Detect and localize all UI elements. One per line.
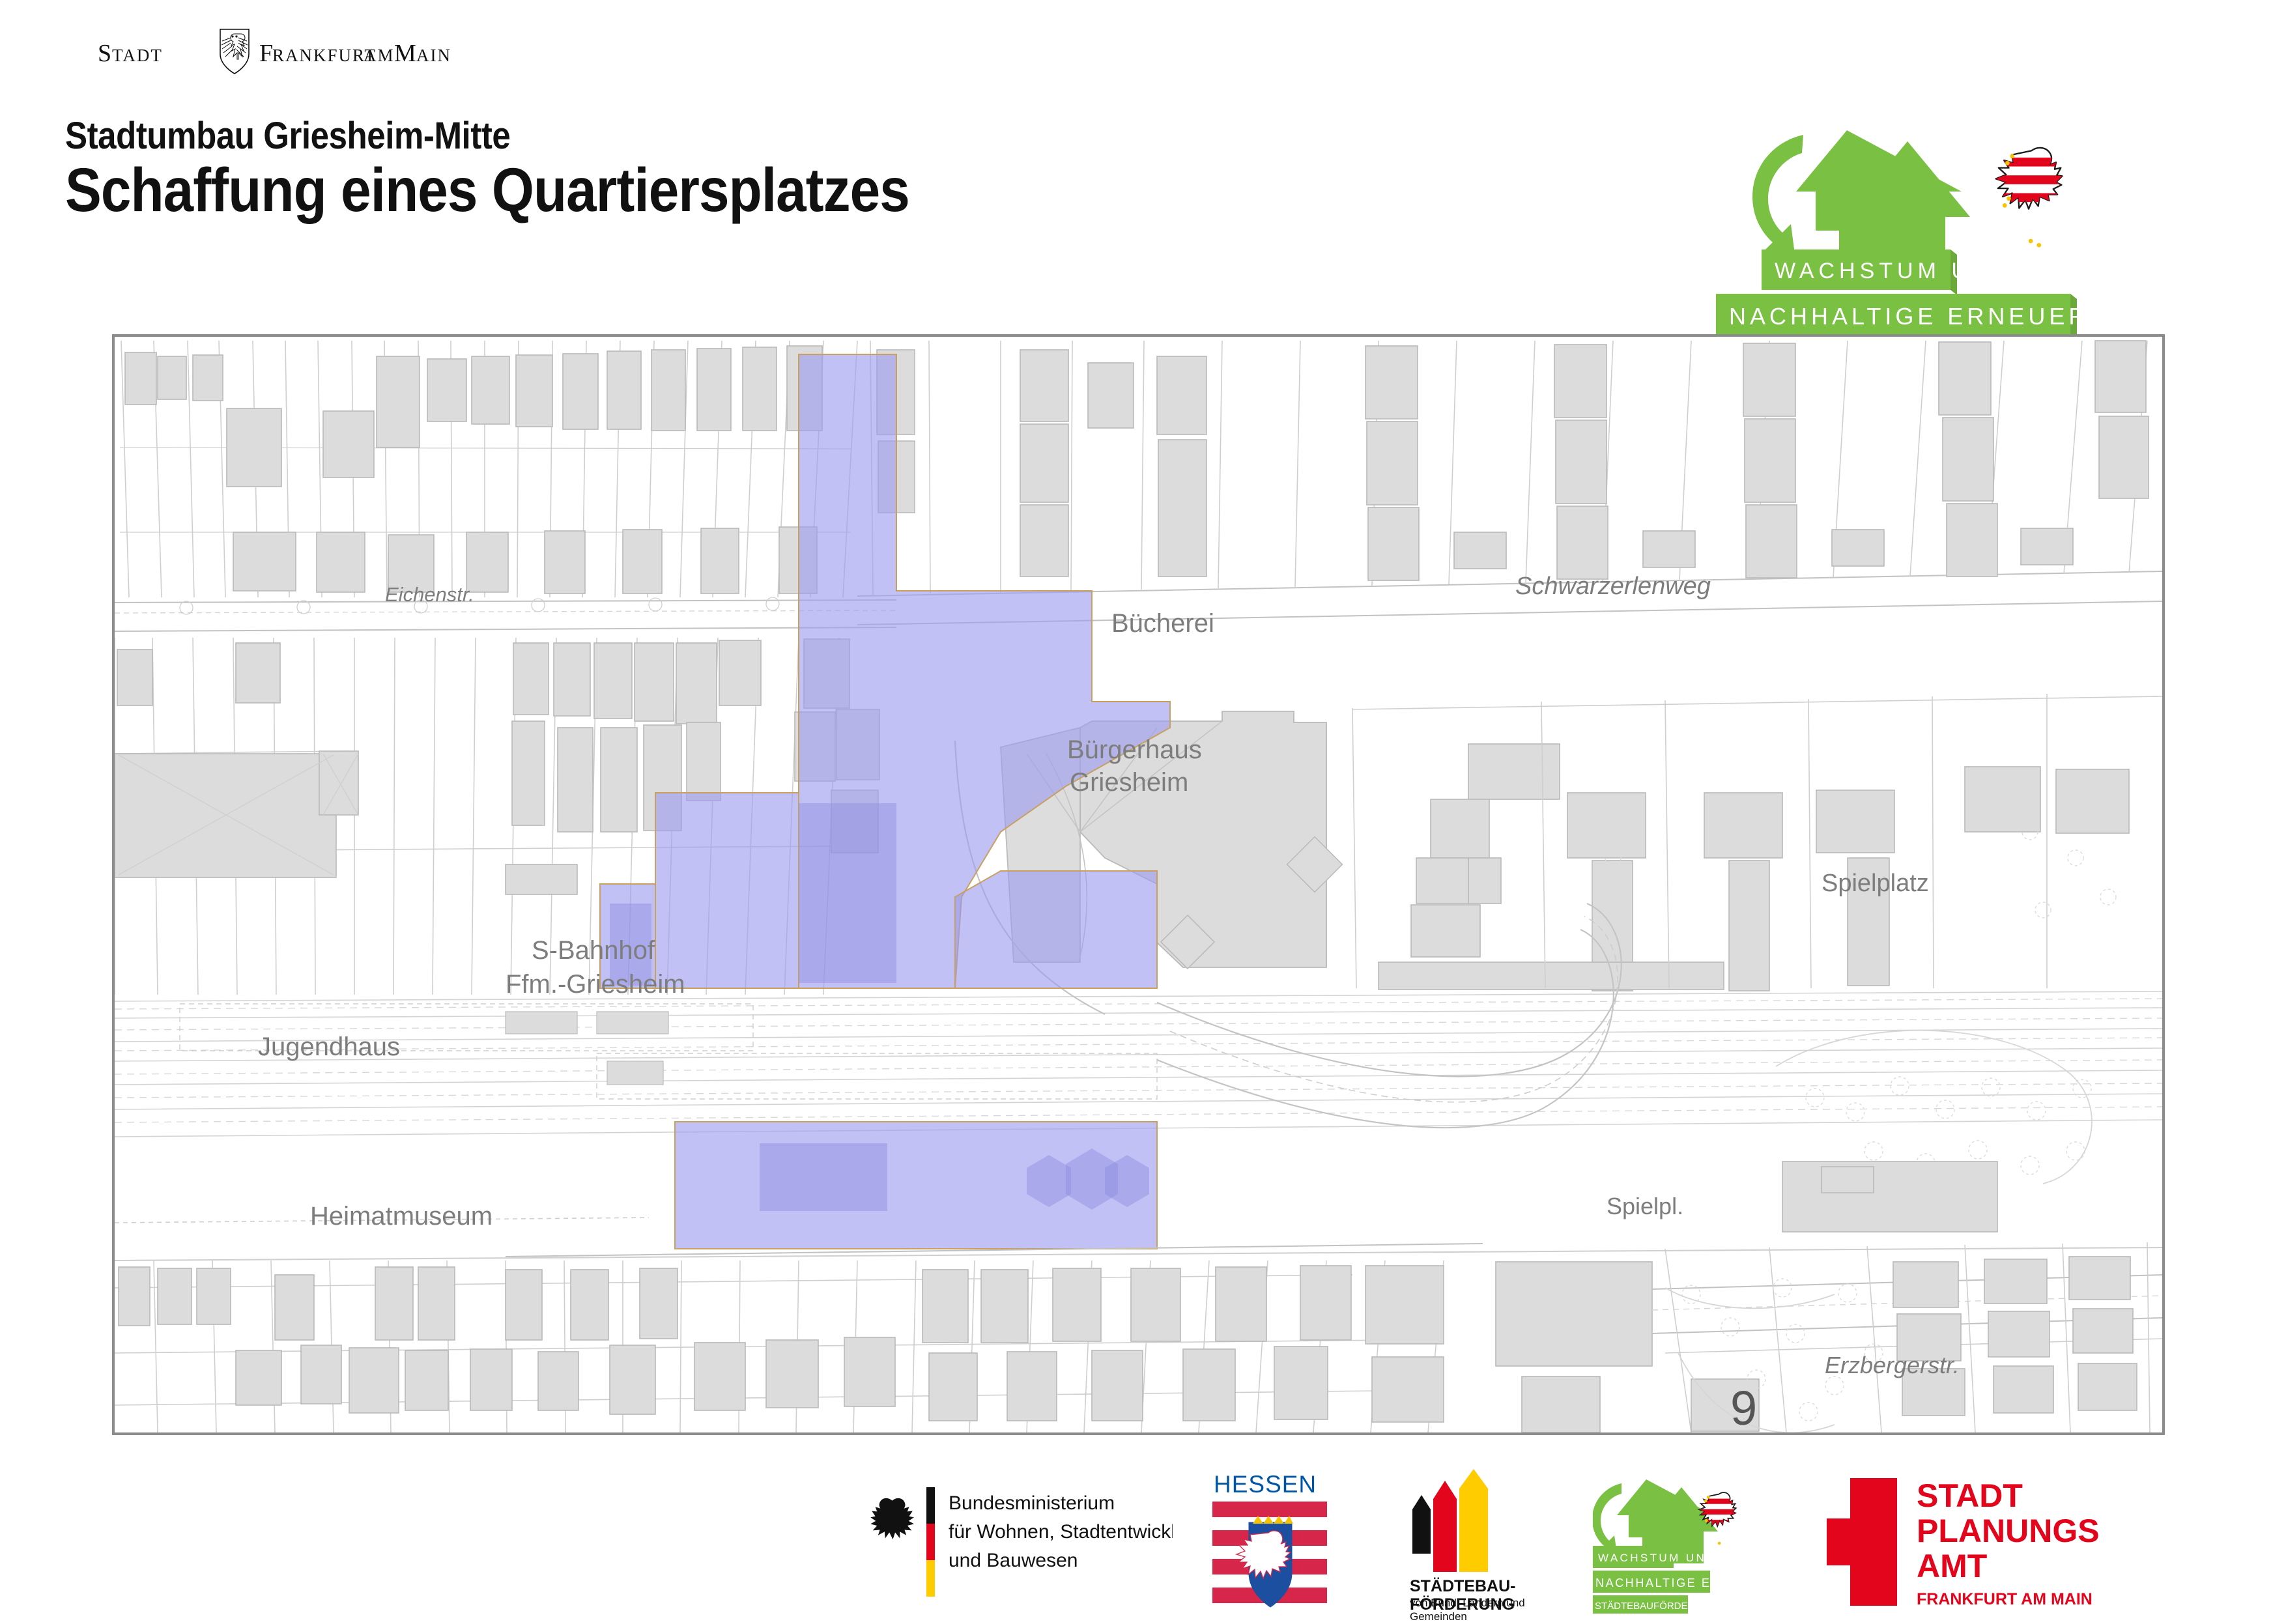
spa-line3: AMT (1917, 1548, 1987, 1584)
staedtebau-line4: Gemeinden (1410, 1610, 1525, 1623)
hessen-label: HESSEN (1214, 1471, 1317, 1498)
bmwsb-logo: Bundesministerium für Wohnen, Stadtentwi… (866, 1469, 1173, 1616)
bmwsb-line1: Bundesministerium (949, 1492, 1115, 1514)
staedtebaufoerderung-logo: STÄDTEBAU- FÖRDERUNG (1381, 1469, 1544, 1616)
staedtebau-line3: von Bund, Ländern und (1410, 1596, 1525, 1610)
spa-line1: STADT (1917, 1477, 2023, 1514)
place-label-spielplatz: Spielplatz (1822, 870, 1929, 898)
svg-text:S: S (98, 40, 112, 67)
place-label-jugendhaus: Jugendhaus (258, 1033, 400, 1062)
stadtplanungsamt-logo: STADT PLANUNGS AMT FRANKFURT AM MAIN (1824, 1469, 2150, 1616)
bmwsb-line3: und Bauwesen (949, 1550, 1078, 1571)
place-label-heimatmuseum: Heimatmuseum (310, 1202, 493, 1231)
svg-text:F: F (259, 40, 274, 67)
funding-logo-strip: Bundesministerium für Wohnen, Stadtentwi… (0, 1469, 2286, 1616)
page-title: Schaffung eines Quartiersplatzes (65, 160, 909, 221)
svg-text:AIN: AIN (416, 46, 451, 65)
place-label-buergerhaus: Bürgerhaus (1067, 735, 1202, 765)
street-label-eichenstr: Eichenstr. (385, 583, 474, 606)
cadastral-site-map[interactable]: 9 Eichenstr. Schwarzerlenweg Erzbergerst… (112, 334, 2165, 1435)
spa-line4: FRANKFURT AM MAIN (1917, 1590, 2093, 1608)
badge-line1: WACHSTUM UND (1775, 259, 2013, 283)
staedtebau-line1: STÄDTEBAU- (1410, 1577, 1516, 1595)
place-label-s-bahnhof: S-Bahnhof (532, 936, 655, 965)
wachstum-small-line2: NACHHALTIGE ERNEUERUNG (1595, 1576, 1769, 1589)
city-of-frankfurt-logo: S TADT F RANKFURT AM M AIN (98, 27, 515, 76)
wachstum-small-logo: WACHSTUM UND NACHHALTIGE ERNEUERUNG STÄD… (1593, 1469, 1769, 1616)
project-subtitle: Stadtumbau Griesheim-Mitte (65, 117, 510, 155)
svg-text:AM: AM (364, 46, 395, 65)
wachstum-small-line1: WACHSTUM UND (1598, 1552, 1717, 1564)
wachstum-small-line3: STÄDTEBAUFÖRDERUNG HESSEN (1595, 1600, 1760, 1612)
spa-line2: PLANUNGS (1917, 1513, 2100, 1549)
staedtebau-subline: von Bund, Ländern und Gemeinden (1410, 1596, 1525, 1624)
place-label-griesheim: Griesheim (1070, 768, 1188, 797)
svg-text:TADT: TADT (112, 46, 163, 65)
svg-text:M: M (394, 40, 417, 67)
hessen-state-logo: HESSEN (1208, 1469, 1332, 1616)
place-label-ffm-griesheim: Ffm.-Griesheim (506, 970, 685, 999)
svg-text:9: 9 (1730, 1381, 1757, 1432)
bmwsb-line2: für Wohnen, Stadtentwicklung (949, 1521, 1173, 1543)
street-label-schwarzerlenweg: Schwarzerlenweg (1515, 573, 1711, 601)
street-label-erzbergerstr: Erzbergerstr. (1825, 1352, 1960, 1379)
place-label-buecherei: Bücherei (1111, 609, 1214, 638)
place-label-spielpl: Spielpl. (1607, 1193, 1683, 1220)
badge-line2: NACHHALTIGE ERNEUERUNG (1729, 303, 2137, 330)
svg-text:RANKFURT: RANKFURT (272, 46, 377, 65)
